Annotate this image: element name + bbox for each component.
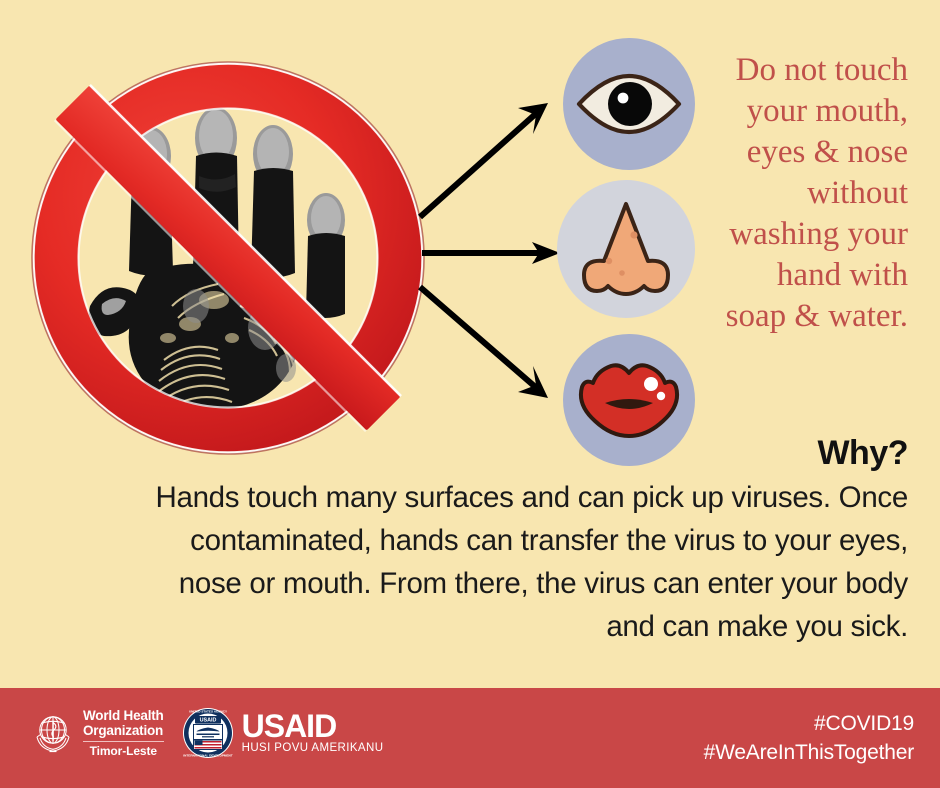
hashtag-together: #WeAreInThisTogether (704, 738, 914, 767)
headline: Do not touch your mouth, eyes & nose wit… (678, 50, 908, 337)
body-line: contaminated, hands can transfer the vir… (70, 519, 908, 562)
nose-icon-circle (557, 180, 695, 318)
poster-canvas: Do not touch your mouth, eyes & nose wit… (0, 0, 940, 788)
who-line-2: Organization (83, 723, 164, 738)
usaid-logo-text: USAID HUSI POVU AMERIKANU (242, 711, 384, 755)
usaid-wordmark: USAID (242, 711, 384, 741)
who-emblem-icon (30, 710, 76, 756)
eye-icon (575, 71, 683, 137)
mouth-icon-circle (563, 334, 695, 466)
svg-text:UNITED STATES AGENCY: UNITED STATES AGENCY (189, 710, 228, 714)
body-paragraph: Hands touch many surfaces and can pick u… (70, 476, 908, 648)
nose-icon (578, 199, 674, 299)
headline-line: without (678, 173, 908, 214)
svg-text:USAID: USAID (199, 718, 216, 724)
who-logo-text: World Health Organization Timor-Leste (83, 708, 164, 758)
body-line: nose or mouth. From there, the virus can… (70, 562, 908, 605)
headline-line: Do not touch (678, 50, 908, 91)
usaid-tagline: HUSI POVU AMERIKANU (242, 741, 384, 755)
footer-hashtags: #COVID19 #WeAreInThisTogether (704, 709, 914, 767)
headline-line: your mouth, (678, 91, 908, 132)
eye-icon-circle (563, 38, 695, 170)
usaid-seal-icon: UNITED STATES AGENCY INTERNATIONAL DEVEL… (182, 707, 234, 759)
hashtag-covid19: #COVID19 (704, 709, 914, 738)
footer-bar: World Health Organization Timor-Leste UN… (0, 688, 940, 788)
body-line: Hands touch many surfaces and can pick u… (70, 476, 908, 519)
why-heading: Why? (817, 434, 908, 473)
headline-line: soap & water. (678, 296, 908, 337)
no-touch-graphic (18, 38, 438, 478)
headline-line: hand with (678, 255, 908, 296)
mouth-icon (577, 359, 681, 441)
body-line: and can make you sick. (70, 605, 908, 648)
who-line-1: World Health (83, 708, 164, 723)
usaid-logo: UNITED STATES AGENCY INTERNATIONAL DEVEL… (182, 707, 384, 759)
arrow-to-eye-line (420, 110, 540, 217)
svg-text:INTERNATIONAL DEVELOPMENT: INTERNATIONAL DEVELOPMENT (183, 754, 232, 758)
who-divider (83, 741, 164, 742)
headline-line: eyes & nose (678, 132, 908, 173)
footer-logos: World Health Organization Timor-Leste UN… (30, 707, 383, 759)
who-logo: World Health Organization Timor-Leste (30, 708, 164, 758)
headline-line: washing your (678, 214, 908, 255)
who-country: Timor-Leste (83, 744, 164, 758)
arrow-to-mouth-line (420, 287, 540, 391)
